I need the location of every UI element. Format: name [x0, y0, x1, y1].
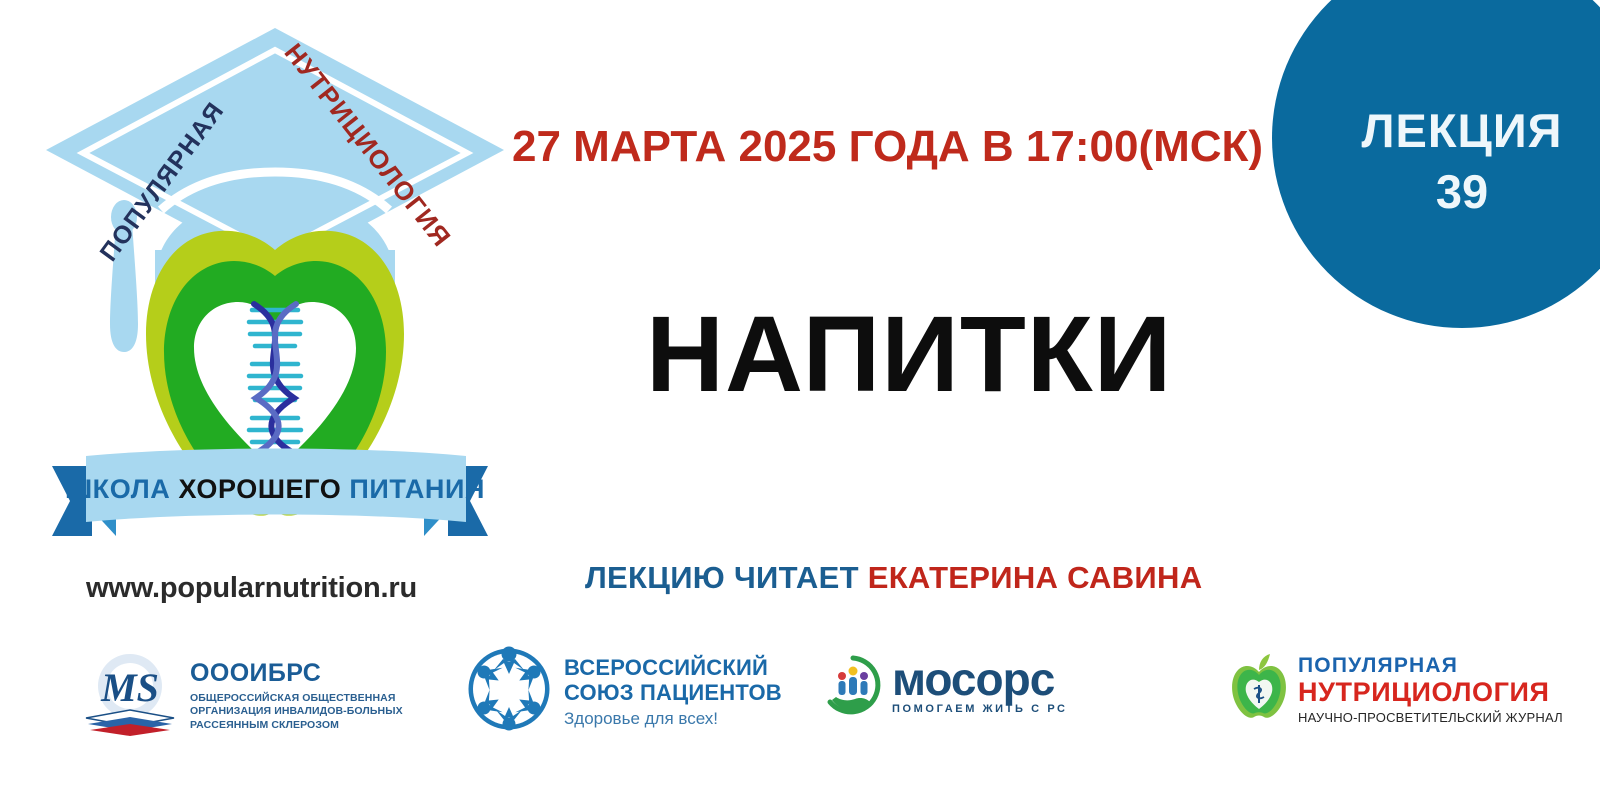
- ribbon-text: ШКОЛА ХОРОШЕГО ПИТАНИЯ: [65, 474, 485, 504]
- lecture-number-badge: ЛЕКЦИЯ 39: [1272, 0, 1600, 328]
- speaker-name: ЕКАТЕРИНА САВИНА: [868, 560, 1203, 595]
- partner-logo-mosors[interactable]: мосорс ПОМОГАЕМ ЖИТЬ С РС: [822, 654, 1068, 721]
- partner-tagline-vsp: Здоровье для всех!: [564, 710, 782, 727]
- ribbon-banner: ШКОЛА ХОРОШЕГО ПИТАНИЯ: [52, 449, 488, 537]
- partner-title-oooibrs: ОООИБРС: [190, 661, 403, 686]
- journal-line-3: НАУЧНО-ПРОСВЕТИТЕЛЬСКИЙ ЖУРНАЛ: [1298, 711, 1563, 724]
- promo-banner: ЛЕКЦИЯ 39: [0, 0, 1600, 800]
- page-title: НАПИТКИ: [646, 300, 1172, 408]
- lecture-badge-word: ЛЕКЦИЯ: [1362, 107, 1563, 154]
- partner-logo-oooibrs[interactable]: MS ОООИБРС ОБЩЕРОССИЙСКАЯ ОБЩЕСТВЕННАЯ О…: [78, 648, 403, 745]
- school-logo: ПОПУЛЯРНАЯ НУТРИЦИОЛОГИЯ: [30, 14, 520, 554]
- svg-text:MS: MS: [100, 665, 159, 710]
- partner-logo-row: MS ОООИБРС ОБЩЕРОССИЙСКАЯ ОБЩЕСТВЕННАЯ О…: [0, 636, 1600, 766]
- partner-tagline-mosors: ПОМОГАЕМ ЖИТЬ С РС: [892, 703, 1068, 715]
- partner-logo-journal[interactable]: ПОПУЛЯРНАЯ НУТРИЦИОЛОГИЯ НАУЧНО-ПРОСВЕТИ…: [1228, 652, 1563, 727]
- partner-subtitle-line: ОБЩЕРОССИЙСКАЯ ОБЩЕСТВЕННАЯ: [190, 692, 403, 705]
- lecture-badge-number: 39: [1436, 168, 1488, 215]
- partner-title-mosors: мосорс: [892, 660, 1068, 700]
- ms-monogram-icon: MS: [78, 648, 182, 745]
- partner-title-vsp: ВСЕРОССИЙСКИЙ СОЮЗ ПАЦИЕНТОВ: [564, 656, 782, 705]
- journal-line-1: ПОПУЛЯРНАЯ: [1298, 655, 1563, 676]
- green-apple-icon: [1228, 652, 1290, 727]
- website-url[interactable]: www.popularnutrition.ru: [86, 572, 417, 605]
- partner-subtitle-line: ОРГАНИЗАЦИЯ ИНВАЛИДОВ-БОЛЬНЫХ: [190, 705, 403, 718]
- speaker-credit: ЛЕКЦИЮ ЧИТАЕТ ЕКАТЕРИНА САВИНА: [585, 560, 1202, 596]
- partner-subtitle-oooibrs: ОБЩЕРОССИЙСКАЯ ОБЩЕСТВЕННАЯ ОРГАНИЗАЦИЯ …: [190, 692, 403, 732]
- partner-logo-vsp[interactable]: ВСЕРОССИЙСКИЙ СОЮЗ ПАЦИЕНТОВ Здоровье дл…: [462, 642, 782, 741]
- partner-subtitle-line: РАССЕЯННЫМ СКЛЕРОЗОМ: [190, 719, 403, 732]
- partner-title-line: ВСЕРОССИЙСКИЙ: [564, 656, 782, 681]
- people-circle-icon: [462, 642, 556, 741]
- lecture-date: 27 МАРТА 2025 ГОДА В 17:00(МСК): [512, 122, 1263, 172]
- partner-title-line: СОЮЗ ПАЦИЕНТОВ: [564, 681, 782, 706]
- journal-line-2: НУТРИЦИОЛОГИЯ: [1298, 679, 1563, 706]
- hand-people-icon: [822, 654, 884, 721]
- speaker-prefix: ЛЕКЦИЮ ЧИТАЕТ: [585, 560, 859, 595]
